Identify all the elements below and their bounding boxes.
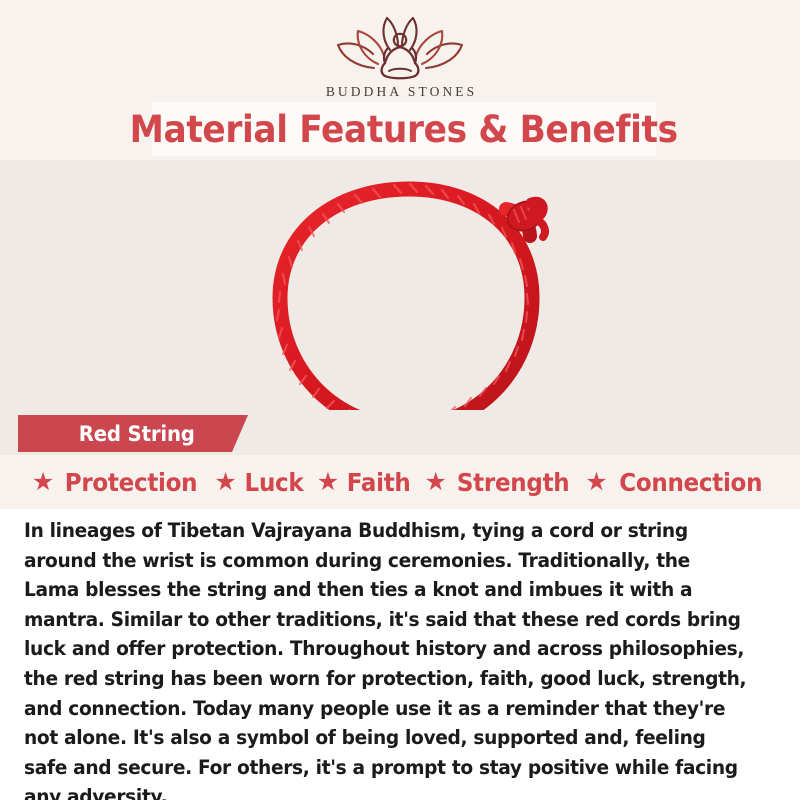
star-icon: ★ [317, 470, 339, 495]
feature-list: ★ Protection ★ Luck ★ Faith ★ Strength ★… [0, 455, 800, 509]
material-badge: Red String [18, 415, 248, 452]
feature-label: Protection [65, 468, 198, 497]
title-band: Material Features & Benefits [152, 102, 656, 156]
star-icon: ★ [425, 470, 447, 495]
feature-item-connection: ★ Connection [585, 468, 768, 497]
description-paragraph: In lineages of Tibetan Vajrayana Buddhis… [24, 516, 750, 800]
star-icon: ★ [32, 470, 54, 495]
feature-item-faith: ★ Faith [317, 468, 414, 497]
material-badge-row: Red String [0, 410, 800, 455]
description-panel: In lineages of Tibetan Vajrayana Buddhis… [0, 509, 800, 800]
lotus-meditation-icon [334, 14, 466, 80]
feature-label: Connection [619, 468, 762, 497]
page-title: Material Features & Benefits [130, 108, 678, 151]
infographic-card: BUDDHA STONES Material Features & Benefi… [0, 0, 800, 800]
product-image-panel [0, 160, 800, 410]
star-icon: ★ [585, 470, 607, 495]
feature-label: Strength [457, 468, 570, 497]
feature-label: Luck [244, 468, 303, 497]
feature-item-protection: ★ Protection [32, 468, 203, 497]
feature-label: Faith [347, 468, 411, 497]
header-section: BUDDHA STONES Material Features & Benefi… [0, 0, 800, 160]
brand-name: BUDDHA STONES [0, 84, 800, 100]
brand-logo: BUDDHA STONES [0, 14, 800, 100]
feature-item-strength: ★ Strength [425, 468, 575, 497]
material-badge-label: Red String [79, 422, 195, 446]
star-icon: ★ [214, 470, 236, 495]
feature-item-luck: ★ Luck [214, 468, 305, 497]
red-braided-string-bracelet-image [244, 180, 574, 410]
